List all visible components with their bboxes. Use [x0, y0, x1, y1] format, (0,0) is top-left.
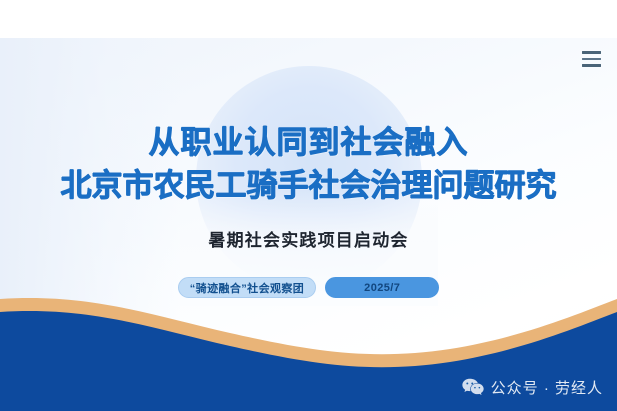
wechat-icon — [462, 378, 484, 397]
poster-page: 从职业认同到社会融入 北京市农民工骑手社会治理问题研究 暑期社会实践项目启动会 … — [0, 0, 617, 411]
wechat-watermark: 公众号 · 劳经人 — [462, 377, 603, 398]
hamburger-bar-bottom — [582, 64, 601, 67]
badge-team-name: “骑迹融合”社会观察团 — [178, 277, 316, 298]
poster-title-line-2: 北京市农民工骑手社会治理问题研究 — [0, 168, 617, 204]
poster-title-line-1: 从职业认同到社会融入 — [0, 125, 617, 161]
badge-row: “骑迹融合”社会观察团 2025/7 — [0, 277, 617, 298]
hamburger-bar-top — [582, 51, 601, 54]
poster-content: 从职业认同到社会融入 北京市农民工骑手社会治理问题研究 暑期社会实践项目启动会 … — [0, 0, 617, 411]
top-chrome-strip — [0, 0, 617, 38]
hamburger-menu-icon[interactable] — [582, 49, 604, 67]
badge-date: 2025/7 — [325, 277, 439, 298]
hamburger-bar-middle — [582, 58, 601, 61]
watermark-text: 公众号 · 劳经人 — [491, 377, 603, 398]
poster-subtitle: 暑期社会实践项目启动会 — [0, 226, 617, 251]
